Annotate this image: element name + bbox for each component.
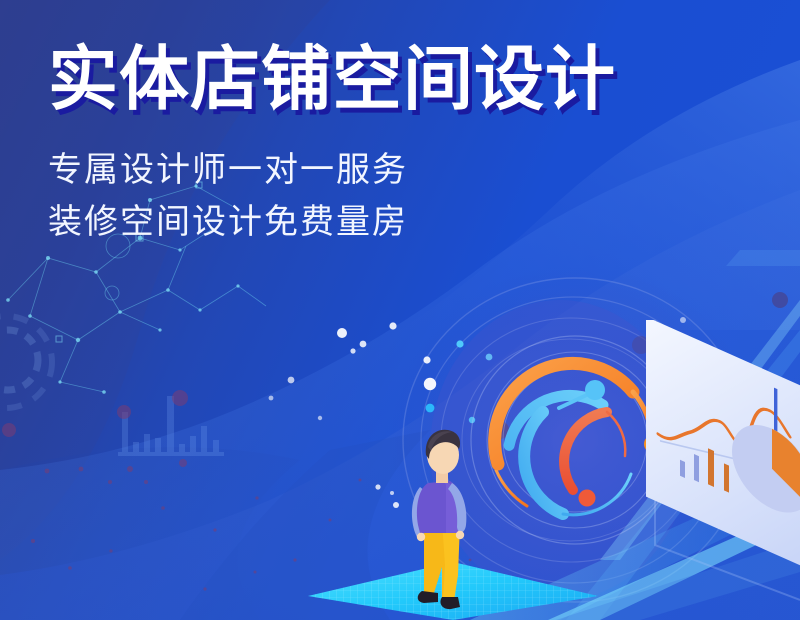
subtitle-group: 专属设计师一对一服务 装修空间设计免费量房 (48, 144, 616, 249)
dashed-ring-decor (0, 316, 52, 408)
dashboard-svg (640, 320, 800, 570)
person-illustration (398, 425, 508, 620)
bar-chart-silhouette (118, 396, 224, 456)
promo-banner: 实体店铺空间设计 专属设计师一对一服务 装修空间设计免费量房 (0, 0, 800, 620)
person-svg (398, 425, 508, 620)
headline-block: 实体店铺空间设计 专属设计师一对一服务 装修空间设计免费量房 (48, 42, 616, 249)
subtitle-line-2: 装修空间设计免费量房 (48, 196, 616, 249)
analytics-dashboard-panel (640, 320, 800, 570)
page-title: 实体店铺空间设计 (48, 42, 616, 118)
subtitle-line-1: 专属设计师一对一服务 (48, 144, 616, 197)
